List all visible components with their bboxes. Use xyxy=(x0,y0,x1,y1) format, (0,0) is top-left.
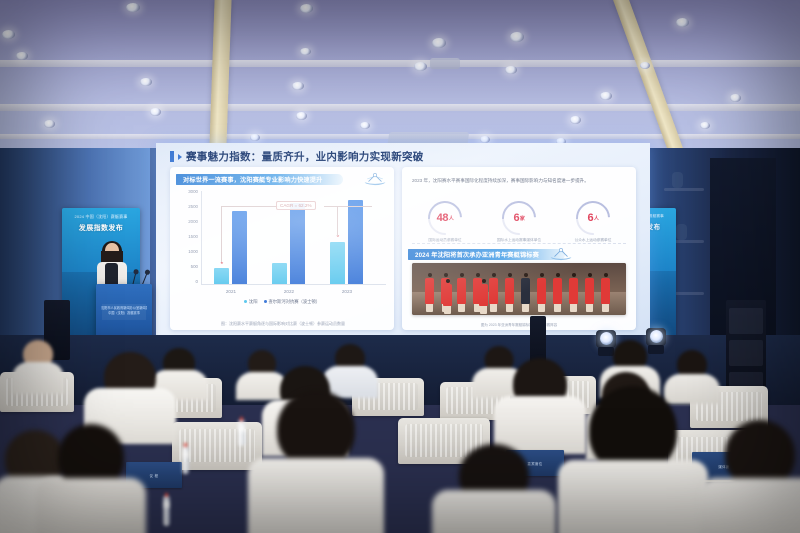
projection-screen: 赛事魅力指数：量质齐升，业内影响力实现新突破 对标世界一流赛事，沈阳赛艇专业影响… xyxy=(156,143,650,340)
bar-chart: 3000 2500 2000 1500 1000 500 0 ★ 2021 20… xyxy=(176,191,388,295)
stat-value: 6 xyxy=(513,212,519,224)
cagr-annotation: CAGR = 62.2% xyxy=(276,201,316,210)
ceiling-beam-right xyxy=(613,0,683,148)
audience-member xyxy=(248,390,384,533)
bar-2023-shenyang xyxy=(330,242,345,284)
y-tick-0: 0 xyxy=(176,279,198,284)
audience-member xyxy=(12,340,64,394)
audience-member xyxy=(36,424,146,533)
ceiling xyxy=(0,0,800,150)
slide-title-text: 赛事魅力指数：量质齐升，业内影响力实现新突破 xyxy=(186,149,424,164)
section-divider xyxy=(412,243,626,244)
x-label-2022: 2022 xyxy=(272,289,306,294)
bar-2021-charles xyxy=(232,211,247,284)
title-arrow-icon xyxy=(178,154,182,160)
right-ribbon-text: 2024 年沈阳将首次承办亚洲青年赛艇锦标赛 xyxy=(415,250,539,259)
x-label-2023: 2023 xyxy=(330,289,364,294)
ceiling-beam-left xyxy=(209,0,231,146)
bar-2022-shenyang xyxy=(272,263,287,284)
banner-left-line2: 发展指数发布 xyxy=(79,223,123,233)
water-bottle xyxy=(182,446,189,474)
y-tick-2000: 2000 xyxy=(176,219,198,224)
stat-group: 48人 国际运动员参赛单位 6家 国际水上运动赛事媒体单位 6人 公众水上运动参… xyxy=(408,201,630,243)
left-ribbon-text: 对标世界一流赛事，沈阳赛艇专业影响力快速提升 xyxy=(183,175,322,184)
left-card-ribbon: 对标世界一流赛事，沈阳赛艇专业影响力快速提升 xyxy=(176,174,343,185)
legend-item-shenyang: 沈阳 xyxy=(244,299,258,305)
bar-2023-charles xyxy=(348,200,363,284)
slide-title: 赛事魅力指数：量质齐升，业内影响力实现新突破 xyxy=(170,149,424,164)
legend-item-charles: 查尔斯河对抗赛（波士顿） xyxy=(264,299,321,305)
podium-text-line2: 中国（沈阳）赛艇赛事 xyxy=(101,311,147,316)
audience-member xyxy=(558,386,708,533)
water-bottle xyxy=(163,496,170,526)
photo-caption: 图为 2023 年亚洲青年赛艇锦标赛中国队参赛阵容 xyxy=(412,323,626,328)
left-card-footnote: 图：沈阳赛水平赛艇角逐与国际影响对比赛（波士顿）参赛运动员数量 xyxy=(176,321,390,327)
x-label-2021: 2021 xyxy=(214,289,248,294)
stat-item: 6人 公众水上运动参赛单位 xyxy=(563,201,623,243)
rowing-boat-icon xyxy=(548,246,574,262)
stat-unit: 人 xyxy=(449,215,454,222)
team-photo xyxy=(412,263,626,315)
bar-2021-shenyang xyxy=(214,268,229,284)
ring-progress-icon: 48人 xyxy=(421,194,469,242)
title-bar-icon xyxy=(170,151,174,162)
y-tick-1000: 1000 xyxy=(176,249,198,254)
water-bottle xyxy=(238,420,245,446)
y-tick-1500: 1500 xyxy=(176,234,198,239)
rowing-boat-icon xyxy=(362,171,388,187)
banner-left-line1: 2024 中国（沈阳）赛艇赛事 xyxy=(74,214,127,220)
stat-unit: 人 xyxy=(594,215,599,222)
stat-unit: 家 xyxy=(520,215,525,222)
bar-2022-charles xyxy=(290,203,305,284)
stat-item: 48人 国际运动员参赛单位 xyxy=(415,201,475,243)
conference-hall-scene: 2024 中国（沈阳）赛艇赛事 发展指数发布 2024 中国（沈阳）赛艇赛事 发… xyxy=(0,0,800,533)
ring-progress-icon: 6人 xyxy=(569,194,617,242)
stat-item: 6家 国际水上运动赛事媒体单位 xyxy=(489,201,549,243)
y-tick-500: 500 xyxy=(176,264,198,269)
chart-legend: 沈阳 查尔斯河对抗赛（波士顿） xyxy=(176,299,388,305)
right-card-paragraph: 2023 年，沈阳赛水平赛事国际化程度持续加深，赛事国际影响力与知名度进一步提升… xyxy=(412,177,626,185)
slide-right-card: 2023 年，沈阳赛水平赛事国际化程度持续加深，赛事国际影响力与知名度进一步提升… xyxy=(402,167,636,330)
audience-member xyxy=(432,444,556,533)
speaker-tower xyxy=(726,300,766,398)
stat-value: 6 xyxy=(587,212,593,224)
placard-text: 议 程 xyxy=(150,473,159,478)
slide-left-card: 对标世界一流赛事，沈阳赛艇专业影响力快速提升 3000 2500 2000 15… xyxy=(170,167,394,330)
right-card-ribbon: 2024 年沈阳将首次承办亚洲青年赛艇锦标赛 xyxy=(408,249,565,260)
ring-progress-icon: 6家 xyxy=(495,194,543,242)
audience-member xyxy=(700,420,800,533)
stat-value: 48 xyxy=(437,212,449,224)
y-tick-3000: 3000 xyxy=(176,189,198,194)
y-tick-2500: 2500 xyxy=(176,204,198,209)
